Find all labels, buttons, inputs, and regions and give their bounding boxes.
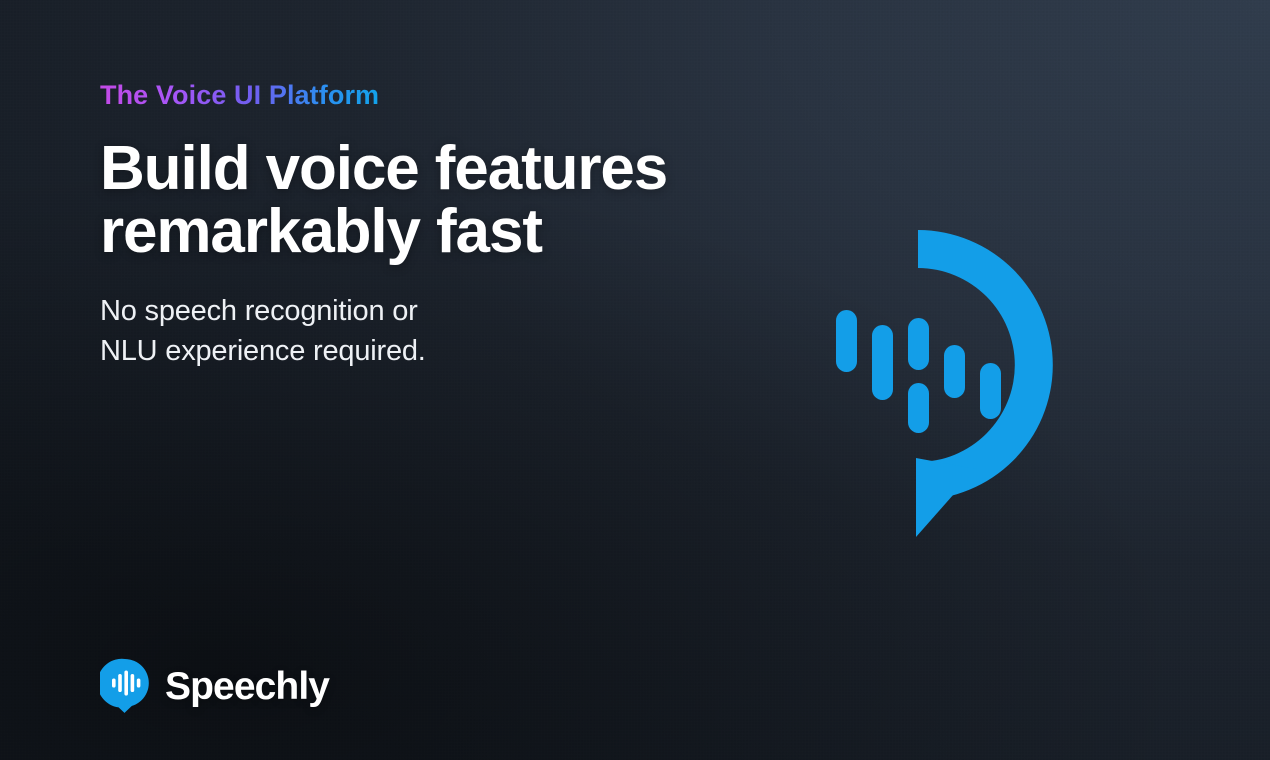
headline-line-1: Build voice features <box>100 137 740 200</box>
wave-bar-3b <box>908 383 929 433</box>
wave-bar-2 <box>872 325 893 400</box>
headline-line-2: remarkably fast <box>100 200 740 263</box>
wave-bar-1 <box>836 310 857 372</box>
subheadline-line-1: No speech recognition or <box>100 291 740 331</box>
hero-slide: The Voice UI Platform Build voice featur… <box>0 0 1270 760</box>
wave-bar-5 <box>980 363 1001 419</box>
eyebrow-label: The Voice UI Platform <box>100 80 379 111</box>
wave-bar-4 <box>944 345 965 398</box>
hero-copy: The Voice UI Platform Build voice featur… <box>100 80 740 371</box>
wave-bar-3a <box>908 318 929 370</box>
footer-logo-lockup: Speechly <box>100 658 329 714</box>
subheadline-line-2: NLU experience required. <box>100 331 740 371</box>
speechly-logo-mark-icon <box>100 658 152 714</box>
page-title: Build voice features remarkably fast <box>100 137 740 263</box>
subheadline: No speech recognition or NLU experience … <box>100 291 740 371</box>
brand-wordmark: Speechly <box>165 667 329 706</box>
speech-bubble-waveform-icon <box>770 215 1070 555</box>
